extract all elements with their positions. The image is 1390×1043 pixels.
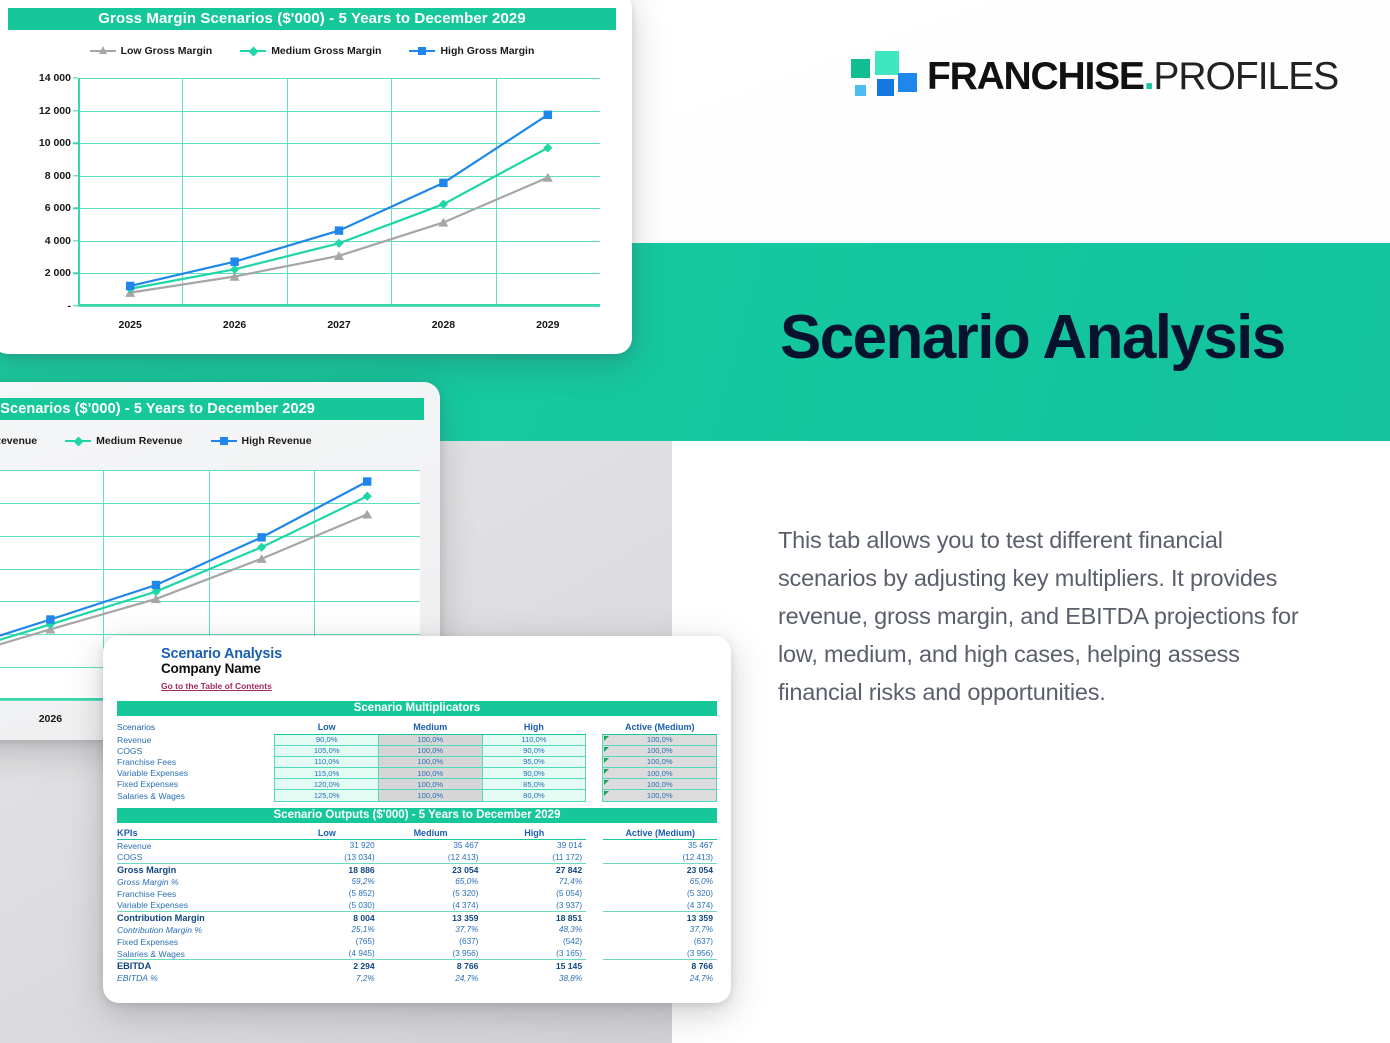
multiplicator-cell-active[interactable]: 100,0%: [603, 790, 717, 801]
table-row: Contribution Margin8 00413 35918 85113 3…: [117, 912, 717, 924]
multiplicators-header-medium: Medium: [379, 719, 483, 734]
multiplicator-row-label: Fixed Expenses: [117, 779, 275, 790]
table-row: Revenue90,0%100,0%110,0%100,0%: [117, 734, 717, 745]
outputs-header-kpis: KPIs: [117, 825, 275, 840]
table-row: Contribution Margin %25,1%37,7%48,3%37,7…: [117, 924, 717, 936]
legend-item-medium-gross-margin: Medium Gross Margin: [240, 45, 381, 57]
data-point-marker: [46, 615, 54, 623]
spacer-cell: [586, 936, 603, 948]
output-cell-low: 18 886: [275, 864, 379, 876]
x-axis-tick-label: 2027: [327, 319, 350, 331]
spacer-cell: [586, 790, 603, 801]
spacer-cell: [586, 876, 603, 888]
y-axis-tick-label: 4 000: [45, 235, 71, 247]
output-cell-low: (5 030): [275, 900, 379, 912]
output-cell-active: 37,7%: [603, 924, 717, 936]
output-cell-high: 48,3%: [482, 924, 586, 936]
output-cell-low: 8 004: [275, 912, 379, 924]
output-cell-medium: 35 467: [379, 839, 483, 851]
output-cell-medium: (12 413): [379, 851, 483, 863]
output-cell-medium: (4 374): [379, 900, 483, 912]
legend-item-low-gross-margin: Low Gross Margin: [90, 45, 213, 57]
gross-margin-plot-area: -2 0004 0006 0008 00010 00012 00014 0002…: [78, 78, 600, 306]
multiplicators-body: Revenue90,0%100,0%110,0%100,0%COGS105,0%…: [117, 734, 717, 801]
data-point-marker: [126, 282, 134, 290]
output-cell-high: (3 937): [482, 900, 586, 912]
multiplicator-cell-high[interactable]: 85,0%: [482, 779, 586, 790]
logo-word-franchise: FRANCHISE: [927, 55, 1144, 98]
output-cell-low: 25,1%: [275, 924, 379, 936]
spacer-cell: [586, 972, 603, 984]
output-row-label: Franchise Fees: [117, 888, 275, 900]
output-cell-high: (11 172): [482, 851, 586, 863]
outputs-header-high: High: [482, 825, 586, 840]
multiplicator-cell-medium[interactable]: 100,0%: [379, 745, 483, 756]
spacer-cell: [586, 948, 603, 960]
multiplicator-cell-high[interactable]: 95,0%: [482, 756, 586, 767]
y-axis-tick-label: 6 000: [45, 202, 71, 214]
series-line: [130, 115, 548, 286]
data-point-marker: [152, 581, 160, 589]
page-description: This tab allows you to test different fi…: [778, 521, 1326, 711]
output-cell-active: (5 320): [603, 888, 717, 900]
output-cell-low: (765): [275, 936, 379, 948]
output-cell-high: 15 145: [482, 960, 586, 972]
brand-logo: FRANCHISE.PROFILES: [849, 45, 1349, 107]
output-row-label: Fixed Expenses: [117, 936, 275, 948]
output-cell-high: 71,4%: [482, 876, 586, 888]
output-cell-active: 8 766: [603, 960, 717, 972]
data-point-marker: [543, 143, 552, 152]
table-row: Gross Margin18 88623 05427 84223 054: [117, 864, 717, 876]
outputs-header-active: Active (Medium): [603, 825, 717, 840]
y-axis-tick-label: 8 000: [45, 170, 71, 182]
spacer-cell: [586, 839, 603, 851]
multiplicators-header-active: Active (Medium): [603, 719, 717, 734]
y-axis-tick-label: 10 000: [39, 137, 71, 149]
gross-margin-chart-card: Gross Margin Scenarios ($'000) - 5 Years…: [0, 0, 632, 354]
output-cell-high: 39 014: [482, 839, 586, 851]
sheet-company-name: Company Name: [161, 661, 717, 676]
table-row: COGS105,0%100,0%90,0%100,0%: [117, 745, 717, 756]
output-cell-active: (3 956): [603, 948, 717, 960]
output-cell-active: 65,0%: [603, 876, 717, 888]
table-row: Franchise Fees110,0%100,0%95,0%100,0%: [117, 756, 717, 767]
multiplicators-header-gap: [586, 719, 603, 734]
multiplicator-cell-active[interactable]: 100,0%: [603, 779, 717, 790]
output-cell-high: (3 165): [482, 948, 586, 960]
spacer-cell: [586, 734, 603, 745]
logo-wordmark: FRANCHISE.PROFILES: [927, 57, 1338, 96]
spacer-cell: [586, 779, 603, 790]
multiplicators-header-row: Scenarios Low Medium High Active (Medium…: [117, 719, 717, 734]
output-row-label: Contribution Margin %: [117, 924, 275, 936]
revenue-chart-title: Revenue Scenarios ($'000) - 5 Years to D…: [0, 398, 424, 420]
legend-label-low-rev: Low Revenue: [0, 435, 37, 447]
x-axis-tick-label: 2025: [119, 319, 142, 331]
multiplicator-cell-low[interactable]: 110,0%: [275, 756, 379, 767]
data-point-marker: [334, 239, 343, 248]
spacer-cell: [586, 924, 603, 936]
data-point-marker: [230, 265, 239, 274]
table-row: Salaries & Wages(4 945)(3 956)(3 165)(3 …: [117, 948, 717, 960]
legend-item-high-revenue: High Revenue: [211, 435, 312, 447]
output-cell-high: 27 842: [482, 864, 586, 876]
output-cell-high: 38,8%: [482, 972, 586, 984]
x-axis-tick-label: 2028: [432, 319, 455, 331]
logo-word-profiles: PROFILES: [1153, 55, 1338, 98]
legend-item-medium-revenue: Medium Revenue: [65, 435, 182, 447]
data-point-marker: [335, 226, 343, 234]
logo-dot: .: [1144, 55, 1154, 98]
legend-label-high: High Gross Margin: [440, 45, 534, 57]
output-row-label: Gross Margin: [117, 864, 275, 876]
legend-label-medium: Medium Gross Margin: [271, 45, 381, 57]
page-title: Scenario Analysis: [780, 307, 1285, 369]
multiplicator-cell-active[interactable]: 100,0%: [603, 768, 717, 779]
output-cell-low: 7,2%: [275, 972, 379, 984]
output-row-label: Gross Margin %: [117, 876, 275, 888]
multiplicator-cell-low[interactable]: 120,0%: [275, 779, 379, 790]
multiplicator-cell-medium[interactable]: 100,0%: [379, 779, 483, 790]
x-axis-tick-label: 2026: [223, 319, 246, 331]
outputs-header-medium: Medium: [379, 825, 483, 840]
y-axis-tick-label: 2 000: [45, 267, 71, 279]
outputs-header-row: KPIs Low Medium High Active (Medium): [117, 825, 717, 840]
scenario-outputs-table: KPIs Low Medium High Active (Medium) Rev…: [117, 825, 717, 984]
output-row-label: Contribution Margin: [117, 912, 275, 924]
multiplicator-cell-medium[interactable]: 100,0%: [379, 768, 483, 779]
spacer-cell: [586, 756, 603, 767]
table-row: Franchise Fees(5 852)(5 320)(5 054)(5 32…: [117, 888, 717, 900]
series-line: [130, 148, 548, 289]
table-row: Salaries & Wages125,0%100,0%80,0%100,0%: [117, 790, 717, 801]
spacer-cell: [586, 864, 603, 876]
multiplicators-header-scenarios: Scenarios: [117, 719, 275, 734]
legend-label-low: Low Gross Margin: [121, 45, 213, 57]
data-point-marker: [362, 510, 372, 519]
output-cell-low: (13 034): [275, 851, 379, 863]
output-cell-medium: 13 359: [379, 912, 483, 924]
output-cell-high: 18 851: [482, 912, 586, 924]
output-cell-medium: 37,7%: [379, 924, 483, 936]
data-point-marker: [363, 492, 372, 501]
sheet-title: Scenario Analysis: [161, 646, 717, 662]
output-row-label: Salaries & Wages: [117, 948, 275, 960]
multiplicator-cell-high[interactable]: 110,0%: [482, 734, 586, 745]
output-cell-high: (5 054): [482, 888, 586, 900]
multiplicator-row-label: Salaries & Wages: [117, 790, 275, 801]
multiplicator-cell-medium[interactable]: 100,0%: [379, 756, 483, 767]
x-axis-tick-label: 2026: [39, 713, 62, 725]
scenario-multiplicators-table: Scenarios Low Medium High Active (Medium…: [117, 719, 717, 802]
data-point-marker: [438, 218, 448, 227]
table-row: Gross Margin %59,2%65,0%71,4%65,0%: [117, 876, 717, 888]
multiplicator-cell-medium[interactable]: 100,0%: [379, 734, 483, 745]
spacer-cell: [586, 888, 603, 900]
multiplicator-cell-high[interactable]: 90,0%: [482, 768, 586, 779]
multiplicators-header-low: Low: [275, 719, 379, 734]
output-cell-active: (12 413): [603, 851, 717, 863]
scenario-multiplicators-band: Scenario Multiplicators: [117, 701, 717, 716]
multiplicator-cell-active[interactable]: 100,0%: [603, 734, 717, 745]
outputs-header-low: Low: [275, 825, 379, 840]
spacer-cell: [586, 912, 603, 924]
multiplicator-cell-low[interactable]: 125,0%: [275, 790, 379, 801]
table-row: COGS(13 034)(12 413)(11 172)(12 413): [117, 851, 717, 863]
table-row: EBITDA %7,2%24,7%38,8%24,7%: [117, 972, 717, 984]
data-point-marker: [439, 200, 448, 209]
legend-label-medium-rev: Medium Revenue: [96, 435, 182, 447]
data-point-marker: [257, 543, 266, 552]
output-cell-medium: 24,7%: [379, 972, 483, 984]
multiplicator-row-label: Variable Expenses: [117, 768, 275, 779]
spacer-cell: [586, 768, 603, 779]
spacer-cell: [586, 900, 603, 912]
output-row-label: EBITDA: [117, 960, 275, 972]
output-row-label: Revenue: [117, 839, 275, 851]
multiplicator-cell-active[interactable]: 100,0%: [603, 756, 717, 767]
multiplicator-cell-low[interactable]: 90,0%: [275, 734, 379, 745]
multiplicator-cell-medium[interactable]: 100,0%: [379, 790, 483, 801]
table-row: Variable Expenses(5 030)(4 374)(3 937)(4…: [117, 900, 717, 912]
output-cell-low: (5 852): [275, 888, 379, 900]
output-cell-active: 13 359: [603, 912, 717, 924]
revenue-chart-legend: Low Revenue Medium Revenue High Revenue: [0, 429, 424, 453]
table-row: Fixed Expenses120,0%100,0%85,0%100,0%: [117, 779, 717, 790]
outputs-body: Revenue31 92035 46739 01435 467COGS(13 0…: [117, 839, 717, 984]
y-axis-tick-label: -: [68, 300, 72, 312]
output-cell-active: 35 467: [603, 839, 717, 851]
data-point-marker: [363, 477, 371, 485]
output-row-label: EBITDA %: [117, 972, 275, 984]
chart-series-layer: [78, 78, 600, 306]
spacer-cell: [586, 851, 603, 863]
table-of-contents-link[interactable]: Go to the Table of Contents: [161, 681, 272, 691]
y-axis-tick-label: 14 000: [39, 72, 71, 84]
output-cell-medium: (5 320): [379, 888, 483, 900]
x-axis-tick-label: 2029: [536, 319, 559, 331]
multiplicator-cell-active[interactable]: 100,0%: [603, 745, 717, 756]
data-point-marker: [230, 258, 238, 266]
output-cell-high: (542): [482, 936, 586, 948]
legend-label-high-rev: High Revenue: [242, 435, 312, 447]
multiplicators-header-high: High: [482, 719, 586, 734]
multiplicator-cell-high[interactable]: 80,0%: [482, 790, 586, 801]
table-row: Revenue31 92035 46739 01435 467: [117, 839, 717, 851]
output-cell-active: 23 054: [603, 864, 717, 876]
output-cell-medium: 8 766: [379, 960, 483, 972]
logo-squares-icon: [849, 51, 905, 101]
table-row: Fixed Expenses(765)(637)(542)(637): [117, 936, 717, 948]
multiplicator-row-label: COGS: [117, 745, 275, 756]
gridline-horizontal: [78, 306, 600, 307]
multiplicator-cell-high[interactable]: 90,0%: [482, 745, 586, 756]
data-point-marker: [257, 554, 267, 563]
scenario-analysis-sheet-card: Scenario Analysis Company Name Go to the…: [103, 636, 731, 1003]
output-row-label: Variable Expenses: [117, 900, 275, 912]
data-point-marker: [543, 173, 553, 182]
scenario-analysis-sheet: Scenario Analysis Company Name Go to the…: [103, 636, 731, 1003]
gross-margin-chart-legend: Low Gross Margin Medium Gross Margin Hig…: [8, 39, 616, 63]
output-cell-low: 59,2%: [275, 876, 379, 888]
output-cell-medium: (637): [379, 936, 483, 948]
table-row: EBITDA2 2948 76615 1458 766: [117, 960, 717, 972]
multiplicator-row-label: Revenue: [117, 734, 275, 745]
output-cell-low: 31 920: [275, 839, 379, 851]
y-axis-tick-label: 12 000: [39, 105, 71, 117]
outputs-header-gap: [586, 825, 603, 840]
data-point-marker: [544, 111, 552, 119]
gross-margin-chart-title: Gross Margin Scenarios ($'000) - 5 Years…: [8, 8, 616, 30]
output-cell-active: (637): [603, 936, 717, 948]
scenario-outputs-band: Scenario Outputs ($'000) - 5 Years to De…: [117, 808, 717, 823]
data-point-marker: [439, 179, 447, 187]
output-cell-medium: (3 956): [379, 948, 483, 960]
legend-item-high-gross-margin: High Gross Margin: [409, 45, 534, 57]
output-cell-active: (4 374): [603, 900, 717, 912]
output-cell-low: (4 945): [275, 948, 379, 960]
multiplicator-row-label: Franchise Fees: [117, 756, 275, 767]
series-line: [0, 496, 367, 656]
table-row: Variable Expenses115,0%100,0%90,0%100,0%: [117, 768, 717, 779]
data-point-marker: [257, 533, 265, 541]
legend-item-low-revenue: Low Revenue: [0, 435, 37, 447]
output-cell-medium: 23 054: [379, 864, 483, 876]
output-cell-active: 24,7%: [603, 972, 717, 984]
output-cell-medium: 65,0%: [379, 876, 483, 888]
output-row-label: COGS: [117, 851, 275, 863]
multiplicator-cell-low[interactable]: 115,0%: [275, 768, 379, 779]
spacer-cell: [586, 745, 603, 756]
series-line: [130, 178, 548, 293]
output-cell-low: 2 294: [275, 960, 379, 972]
multiplicator-cell-low[interactable]: 105,0%: [275, 745, 379, 756]
spacer-cell: [586, 960, 603, 972]
